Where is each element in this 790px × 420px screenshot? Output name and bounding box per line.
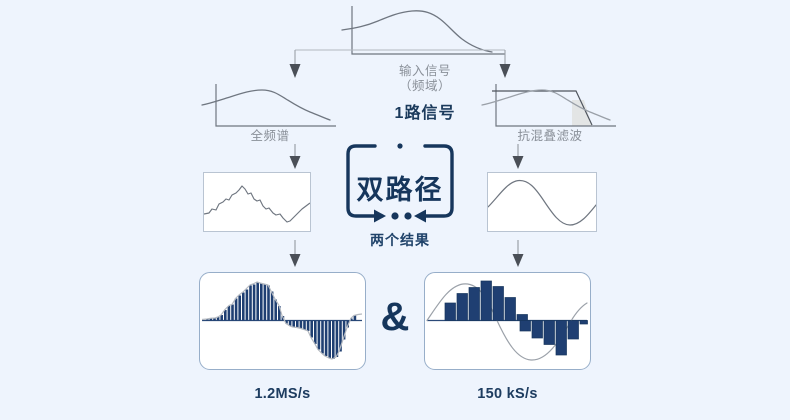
joiner-ampersand: & (375, 297, 415, 337)
arrow-down-left-lower (285, 240, 305, 268)
fast-sample-rate-label: 1.2MS/s (199, 386, 366, 402)
arrow-down-right-lower (508, 240, 528, 268)
full-spectrum-caption: 全频谱 (200, 129, 340, 144)
arrow-down-left-upper (285, 144, 305, 170)
anti-alias-filter-caption: 抗混叠滤波 (480, 129, 620, 144)
wideband-time-trace-panel (203, 172, 311, 232)
slow-sample-rate-label: 150 kS/s (424, 386, 591, 402)
anti-alias-filter-chart (480, 82, 620, 132)
filtered-sine-trace-panel (487, 172, 597, 232)
full-spectrum-chart (200, 82, 340, 132)
split-bus-connector (285, 44, 515, 80)
fast-sampled-result-panel (199, 272, 366, 370)
arrow-down-right-upper (508, 144, 528, 170)
dual-path-badge-label: 双路径 (342, 168, 458, 207)
slow-sampled-result-panel (424, 272, 591, 370)
two-results-label: 两个结果 (340, 230, 460, 250)
diagram-canvas: 输入信号 （频域） 1路信号 全频谱 (0, 0, 790, 420)
